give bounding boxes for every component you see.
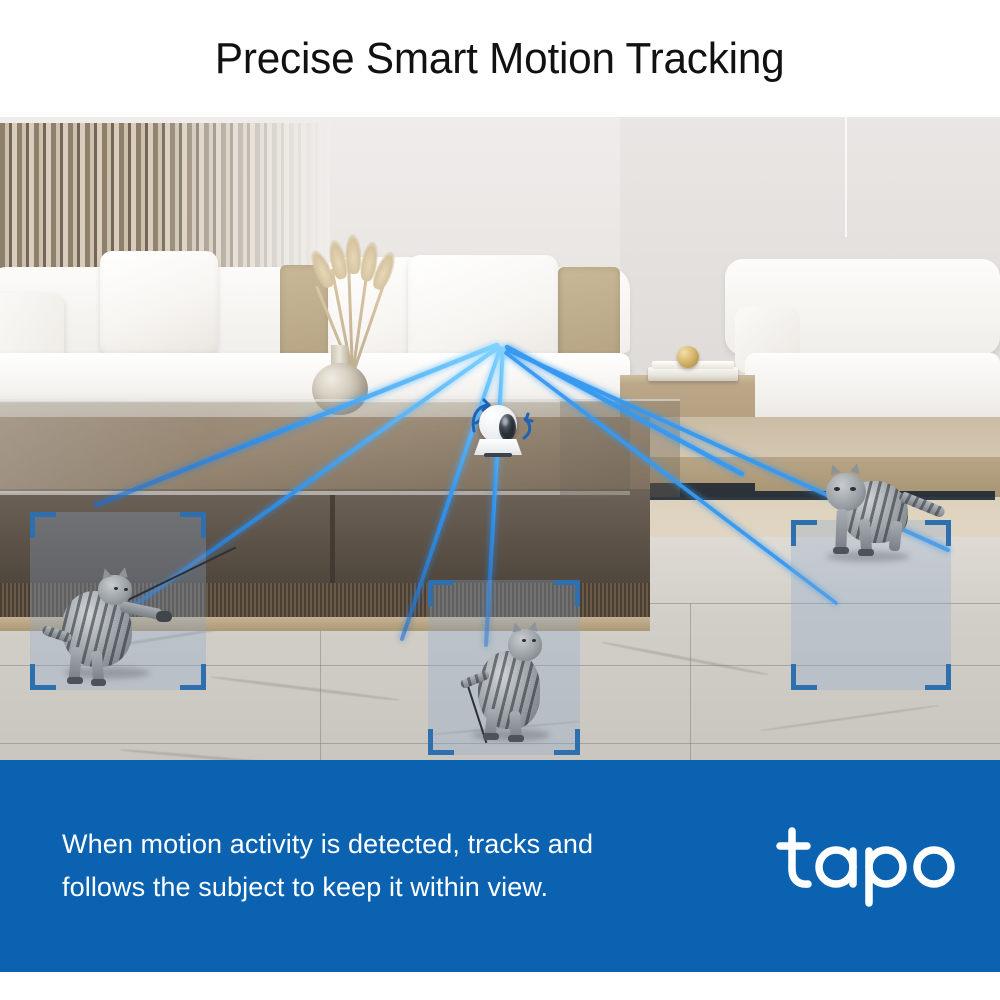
bracket-bottom-right (925, 664, 951, 690)
cat-paw (67, 677, 83, 684)
cat-ear (528, 620, 539, 631)
pan-tilt-security-camera (470, 401, 526, 457)
cat-paw (833, 547, 849, 554)
bracket-bottom-left (791, 664, 817, 690)
bracket-bottom-left (30, 664, 56, 690)
cat-paw-raised (156, 611, 172, 622)
cat-head (508, 629, 542, 661)
cat-eye (124, 588, 128, 591)
cat-leg (835, 509, 847, 551)
cat-eye (834, 487, 840, 491)
cat-right (812, 447, 952, 565)
bracket-top-left (30, 512, 56, 538)
feature-description-text: When motion activity is detected, tracks… (62, 823, 593, 908)
bracket-top-left (428, 580, 454, 606)
cat-head (826, 473, 866, 511)
cat-eye (522, 639, 526, 642)
camera-foot (484, 453, 512, 457)
cat-ear (118, 566, 129, 577)
bracket-top-right (180, 512, 206, 538)
tapo-logo (774, 823, 964, 909)
cat-paw (858, 549, 874, 556)
product-scene-photo (0, 117, 1000, 760)
page-title: Precise Smart Motion Tracking (215, 37, 785, 81)
bracket-top-right (554, 580, 580, 606)
cat-paw (508, 735, 524, 742)
bracket-bottom-left (428, 729, 454, 755)
cat-ear (850, 462, 862, 474)
cat-paw (483, 733, 499, 740)
lens-highlight (502, 417, 508, 426)
cat-leg (889, 521, 903, 552)
cat-eye (850, 487, 856, 491)
cat-paw (91, 679, 106, 686)
feature-description-banner: When motion activity is detected, tracks… (0, 760, 1000, 972)
cat-eye (114, 587, 118, 590)
cat-center (452, 617, 572, 745)
cat-left (58, 555, 188, 685)
cat-eye (532, 639, 536, 642)
marketing-image: Precise Smart Motion Tracking (0, 0, 1000, 1000)
headline-area: Precise Smart Motion Tracking (0, 0, 1000, 117)
footer-whitespace (0, 972, 1000, 1000)
camera-head (479, 405, 517, 443)
